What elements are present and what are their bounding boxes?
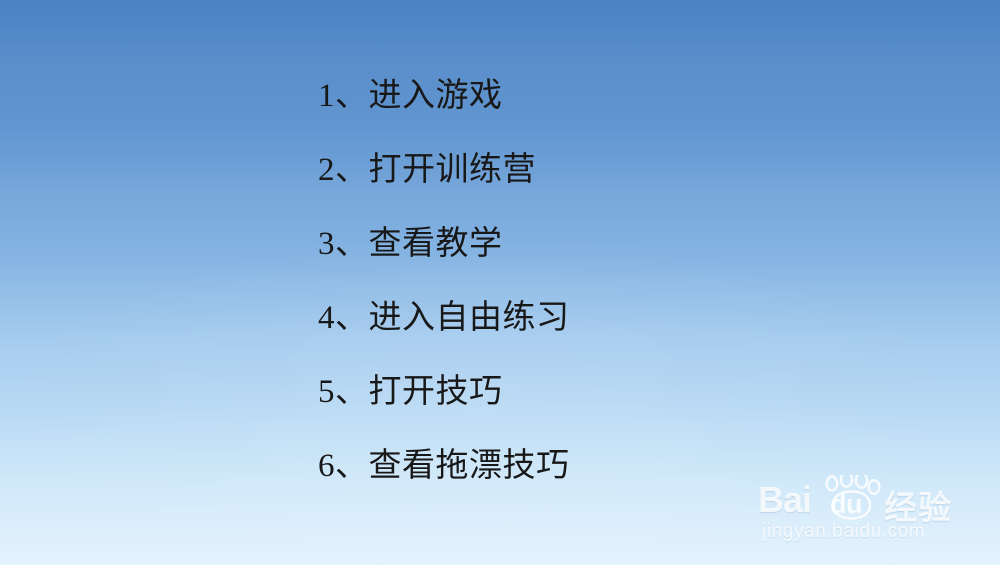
step-label: 打开技巧 [369, 371, 503, 410]
list-item: 1、进入游戏 [318, 58, 958, 132]
step-label: 查看教学 [369, 223, 503, 262]
steps-list: 1、进入游戏 2、打开训练营 3、查看教学 4、进入自由练习 5、打开技巧 6、… [318, 58, 958, 502]
step-number: 6、 [318, 448, 369, 484]
list-item: 5、打开技巧 [318, 354, 958, 428]
step-label: 打开训练营 [369, 149, 537, 188]
step-label: 查看拖漂技巧 [369, 445, 570, 484]
watermark-url: jingyan.baidu.com [762, 521, 925, 543]
list-item: 4、进入自由练习 [318, 280, 958, 354]
list-item: 2、打开训练营 [318, 132, 958, 206]
step-number: 3、 [318, 226, 369, 262]
step-number: 1、 [318, 78, 369, 114]
step-number: 4、 [318, 300, 369, 336]
slide-canvas: 1、进入游戏 2、打开训练营 3、查看教学 4、进入自由练习 5、打开技巧 6、… [0, 0, 1000, 565]
list-item: 6、查看拖漂技巧 [318, 428, 958, 502]
step-label: 进入游戏 [369, 75, 503, 114]
step-label: 进入自由练习 [369, 297, 570, 336]
step-number: 2、 [318, 152, 369, 188]
step-number: 5、 [318, 374, 369, 410]
list-item: 3、查看教学 [318, 206, 958, 280]
